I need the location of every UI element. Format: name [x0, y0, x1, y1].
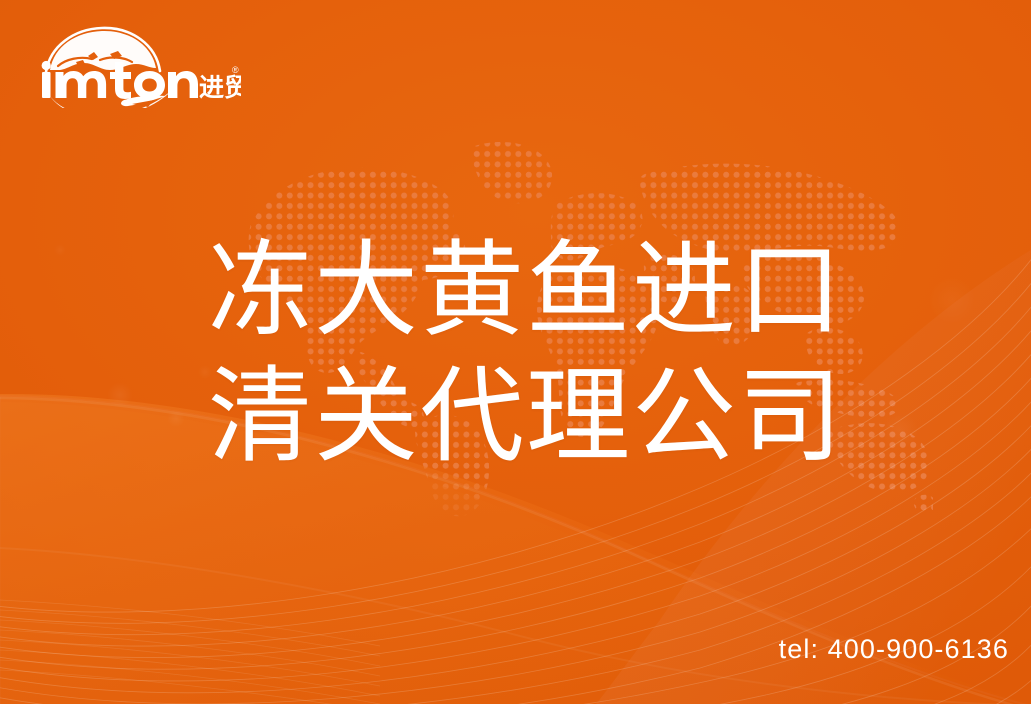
page-title: 冻大黄鱼进口 清关代理公司 — [208, 228, 868, 480]
promo-banner: 进贸通 ® 冻大黄鱼进口 清关代理公司 tel: 400-900-6136 — [0, 0, 1031, 704]
bottom-left-striping — [0, 600, 380, 704]
logo-chinese-name: 进贸通 ® — [199, 65, 241, 102]
svg-text:进贸通: 进贸通 — [199, 74, 241, 102]
svg-text:®: ® — [232, 65, 239, 75]
headline-line-2: 清关代理公司 — [208, 354, 868, 480]
contact-telephone[interactable]: tel: 400-900-6136 — [779, 634, 1009, 665]
headline-line-1: 冻大黄鱼进口 — [208, 228, 868, 354]
globe-arc-icon — [46, 28, 160, 72]
company-logo[interactable]: 进贸通 ® — [36, 26, 241, 108]
